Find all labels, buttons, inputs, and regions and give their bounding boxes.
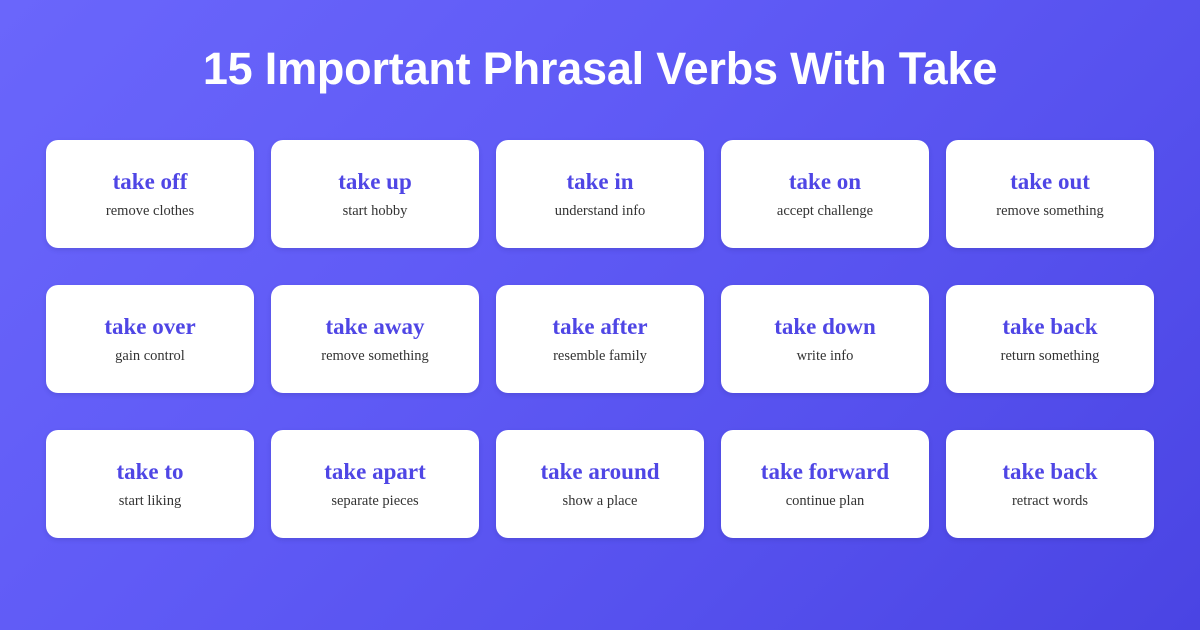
- verb-meaning: remove clothes: [106, 203, 194, 220]
- verb-phrase: take forward: [761, 459, 889, 484]
- verb-meaning: remove something: [996, 203, 1104, 220]
- verb-card: take after resemble family: [496, 285, 704, 393]
- verb-phrase: take over: [104, 314, 195, 339]
- verb-meaning: show a place: [563, 493, 638, 510]
- verb-meaning: remove something: [321, 348, 429, 365]
- verb-card: take back return something: [946, 285, 1154, 393]
- verb-card-grid: take off remove clothes take up start ho…: [46, 140, 1154, 538]
- verb-meaning: retract words: [1012, 493, 1088, 510]
- verb-phrase: take out: [1010, 169, 1090, 194]
- phrasal-verbs-poster: 15 Important Phrasal Verbs With Take tak…: [0, 0, 1200, 630]
- verb-phrase: take after: [552, 314, 647, 339]
- verb-meaning: accept challenge: [777, 203, 873, 220]
- verb-card: take apart separate pieces: [271, 430, 479, 538]
- verb-meaning: separate pieces: [331, 493, 418, 510]
- verb-card: take forward continue plan: [721, 430, 929, 538]
- verb-card: take off remove clothes: [46, 140, 254, 248]
- verb-phrase: take around: [540, 459, 659, 484]
- verb-phrase: take up: [338, 169, 412, 194]
- verb-phrase: take on: [789, 169, 861, 194]
- verb-phrase: take away: [325, 314, 424, 339]
- verb-phrase: take off: [113, 169, 188, 194]
- verb-card: take around show a place: [496, 430, 704, 538]
- verb-meaning: start hobby: [343, 203, 408, 220]
- verb-card: take to start liking: [46, 430, 254, 538]
- page-title: 15 Important Phrasal Verbs With Take: [0, 46, 1200, 91]
- verb-card: take back retract words: [946, 430, 1154, 538]
- verb-meaning: understand info: [555, 203, 646, 220]
- verb-meaning: start liking: [119, 493, 181, 510]
- verb-meaning: resemble family: [553, 348, 647, 365]
- verb-phrase: take back: [1002, 314, 1097, 339]
- verb-phrase: take to: [116, 459, 183, 484]
- verb-phrase: take apart: [324, 459, 426, 484]
- verb-card: take on accept challenge: [721, 140, 929, 248]
- verb-card: take down write info: [721, 285, 929, 393]
- verb-meaning: write info: [797, 348, 854, 365]
- verb-card: take away remove something: [271, 285, 479, 393]
- verb-meaning: gain control: [115, 348, 185, 365]
- verb-phrase: take in: [566, 169, 633, 194]
- verb-meaning: return something: [1001, 348, 1100, 365]
- verb-card: take in understand info: [496, 140, 704, 248]
- verb-card: take over gain control: [46, 285, 254, 393]
- verb-phrase: take back: [1002, 459, 1097, 484]
- verb-card: take out remove something: [946, 140, 1154, 248]
- verb-meaning: continue plan: [786, 493, 865, 510]
- verb-phrase: take down: [774, 314, 876, 339]
- verb-card: take up start hobby: [271, 140, 479, 248]
